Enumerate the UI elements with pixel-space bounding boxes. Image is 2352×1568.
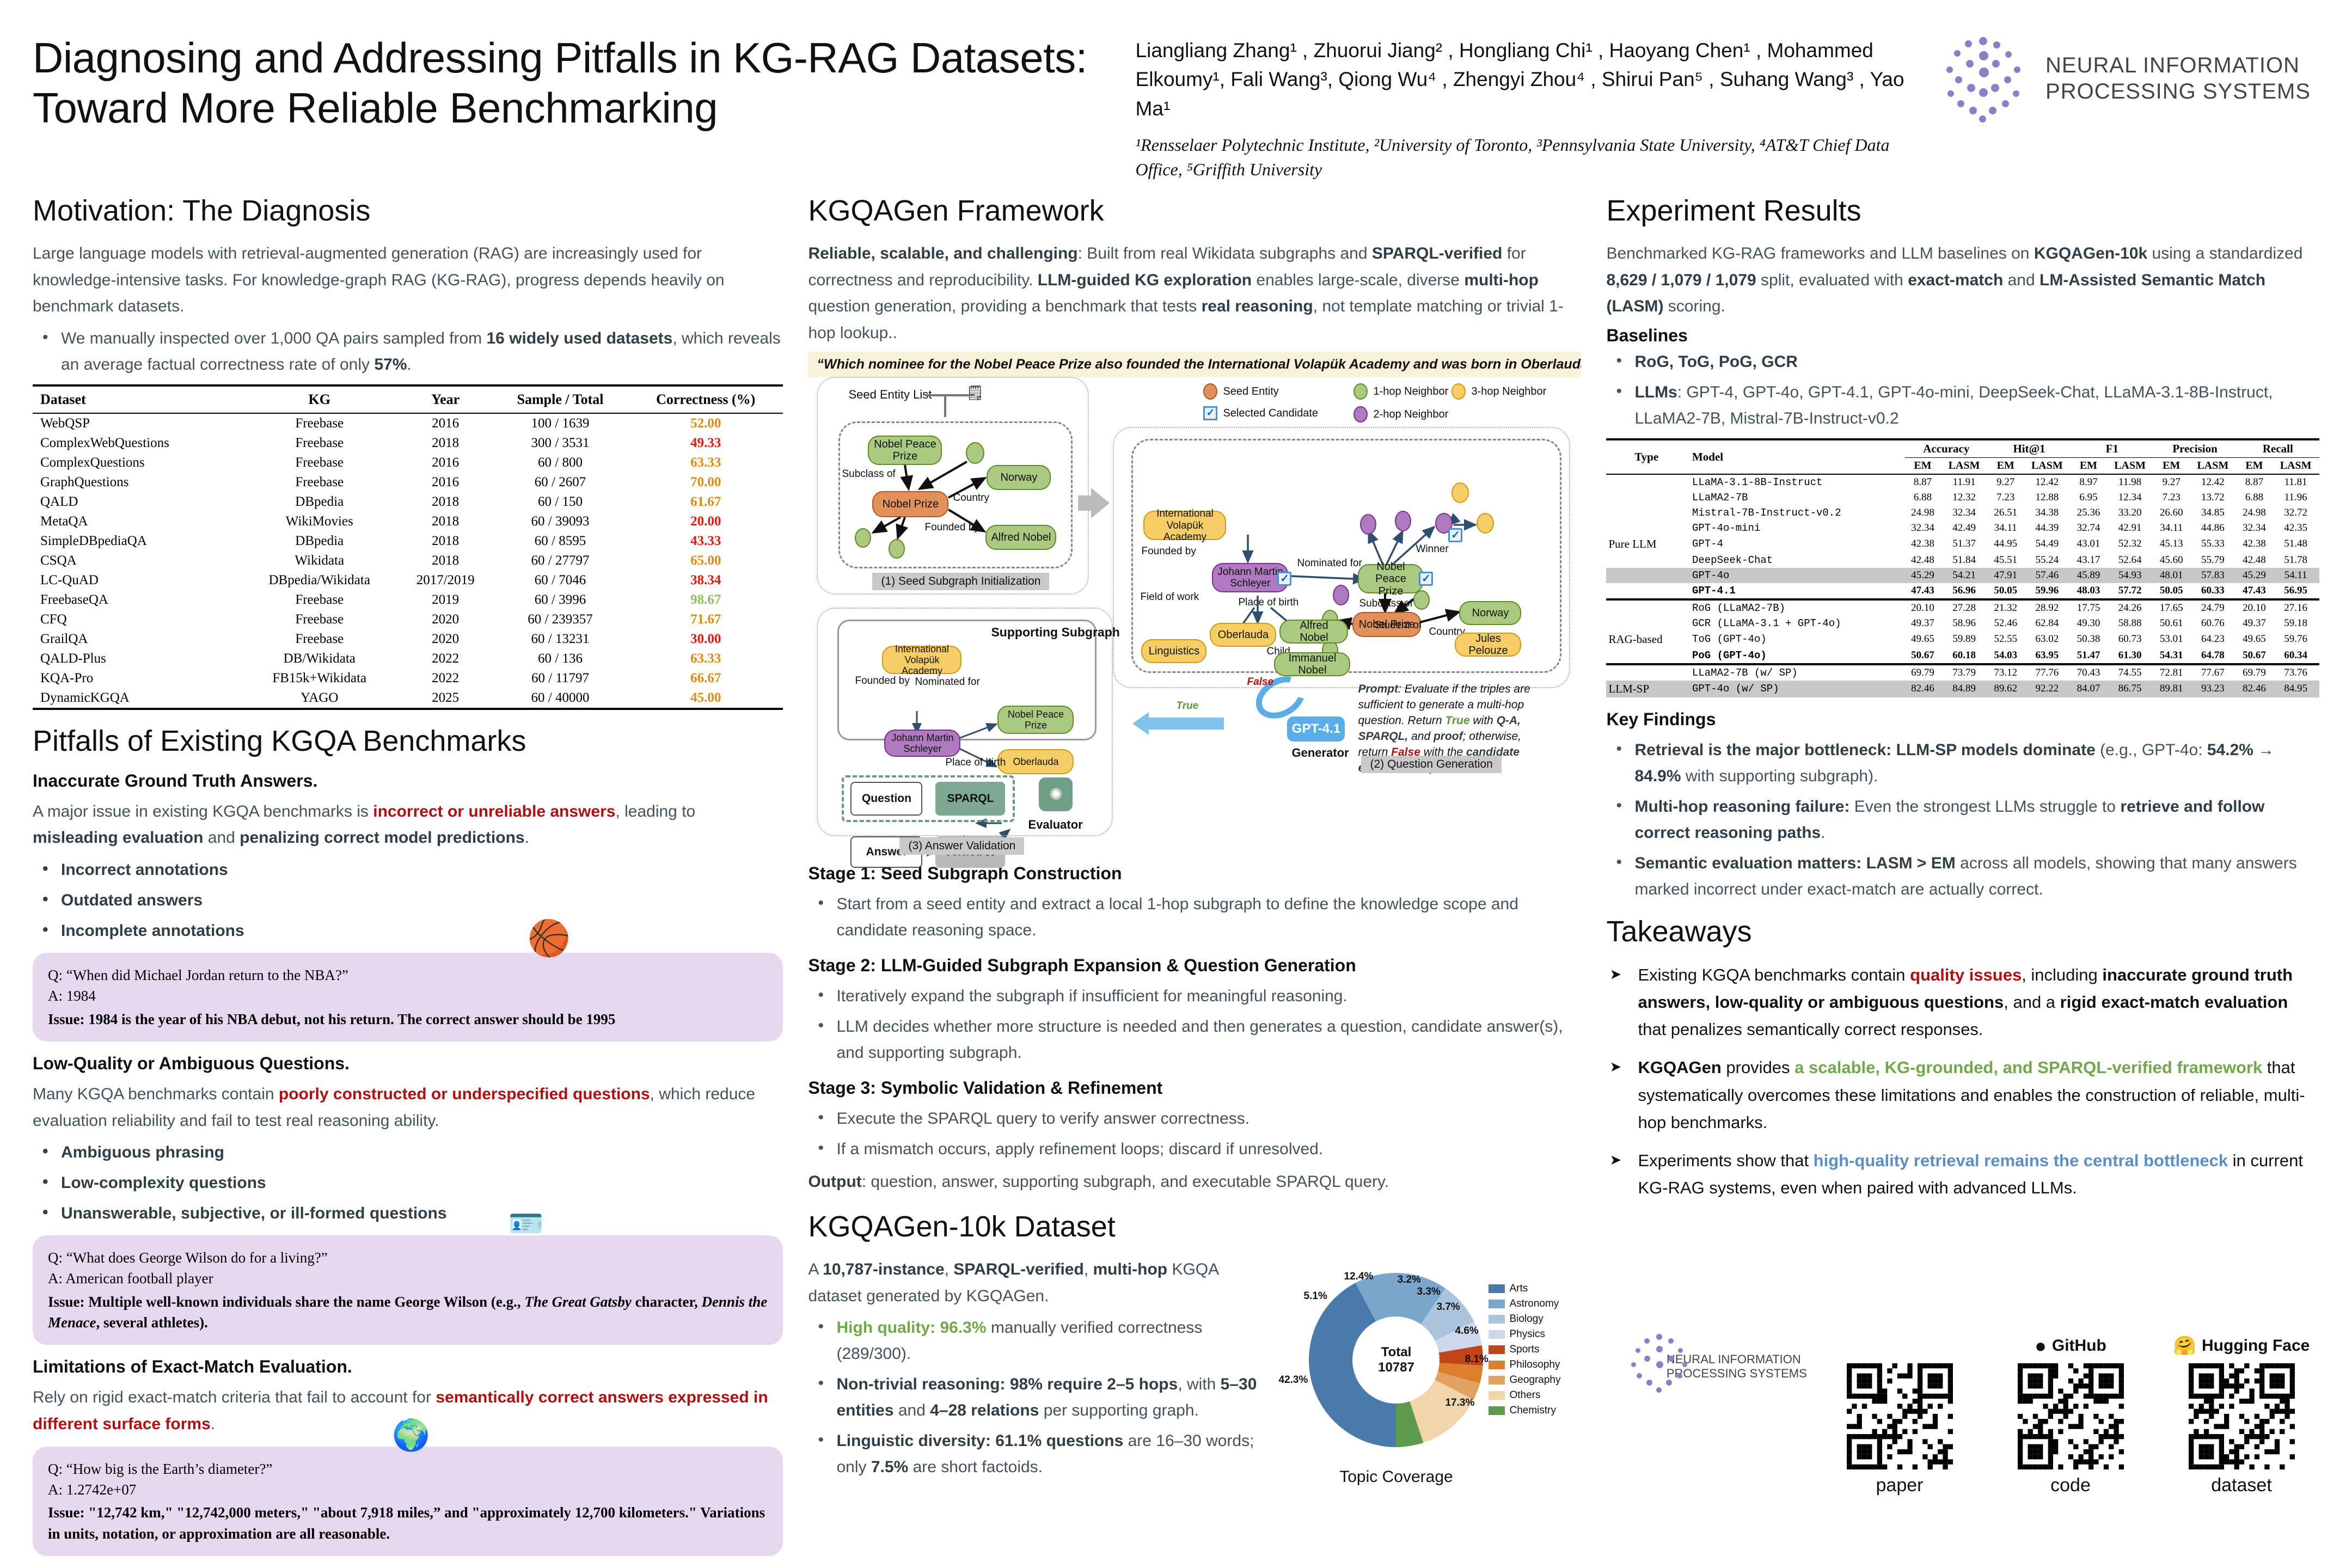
two-hop-dot-icon bbox=[1353, 406, 1368, 422]
cell-metric: 32.74 bbox=[2071, 520, 2106, 536]
section-heading-pitfalls: Pitfalls of Existing KGQA Benchmarks bbox=[33, 724, 783, 758]
cell-metric: 50.61 bbox=[2153, 616, 2189, 631]
chart-title: Topic Coverage bbox=[1303, 1468, 1489, 1486]
fw-bold: Reliable, scalable, and challenging bbox=[808, 244, 1077, 262]
title-block: Diagnosing and Addressing Pitfalls in KG… bbox=[33, 22, 1119, 133]
poster-header: Diagnosing and Addressing Pitfalls in KG… bbox=[33, 22, 2319, 185]
list-item: Outdated answers bbox=[33, 887, 783, 914]
res-subcol-lasm: LASM bbox=[2106, 457, 2154, 474]
cell-kg: DBpedia/Wikidata bbox=[240, 571, 399, 590]
kf0-b: Retrieval is the major bottleneck: LLM-S… bbox=[1634, 741, 2095, 759]
p2-i-b: character, bbox=[632, 1294, 702, 1310]
arrow-seed-down bbox=[944, 394, 946, 417]
cell-metric: 47.43 bbox=[2237, 583, 2273, 599]
legend-item: Physics bbox=[1489, 1328, 1560, 1340]
list-item: LLM decides whether more structure is ne… bbox=[808, 1014, 1581, 1066]
node-norway: Norway bbox=[987, 465, 1051, 490]
p2-i-i1: The Great Gatsby bbox=[524, 1294, 631, 1310]
cell-type: RAG-based bbox=[1606, 631, 1687, 648]
cell-metric: 7.23 bbox=[1988, 490, 2024, 505]
cell-metric: 54.31 bbox=[2153, 648, 2189, 664]
res-b: using a standardized bbox=[2147, 244, 2302, 262]
diagram-caption-1: (1) Seed Subgraph Initialization bbox=[872, 573, 1049, 590]
cell-correctness: 61.67 bbox=[628, 492, 783, 512]
res-d: and bbox=[2003, 271, 2039, 289]
cell-kg: Wikidata bbox=[240, 551, 399, 571]
legend-item: Astronomy bbox=[1489, 1298, 1560, 1310]
cell-metric: 20.10 bbox=[1905, 599, 1941, 616]
cell-dataset: CFQ bbox=[33, 610, 240, 629]
tk0-red: quality issues bbox=[1910, 965, 2022, 984]
kf2-b: Semantic evaluation matters: LASM > EM bbox=[1634, 854, 1955, 872]
list-item: RoG, ToG, PoG, GCR bbox=[1606, 349, 2319, 375]
cell-metric: 12.42 bbox=[2189, 474, 2237, 490]
framework-stages: Stage 1: Seed Subgraph Construction Star… bbox=[808, 863, 1581, 1196]
cell-type-empty bbox=[1606, 520, 1687, 536]
section-heading-results: Experiment Results bbox=[1606, 194, 2319, 228]
edge-winner: Winner bbox=[1416, 543, 1448, 555]
motiv-b-bold1: 16 widely used datasets bbox=[487, 329, 673, 347]
cell-model: GCR (LLaMA-3.1 + GPT-4o) bbox=[1687, 616, 1905, 631]
cell-sample: 60 / 39093 bbox=[492, 512, 628, 531]
col-sample: Sample / Total bbox=[492, 385, 628, 413]
cell-kg: Freebase bbox=[240, 629, 399, 649]
seed-entity-dot-icon bbox=[1203, 383, 1217, 400]
table-row: RAG-basedToG (GPT-4o)49.6559.8952.5563.0… bbox=[1606, 631, 2319, 648]
cell-metric: 34.11 bbox=[2153, 520, 2189, 536]
cell-metric: 27.16 bbox=[2272, 599, 2319, 616]
supporting-subgraph-label: Supporting Subgraph bbox=[991, 625, 1119, 640]
cell-model: RoG (LLaMA2-7B) bbox=[1687, 599, 1905, 616]
legend-seed-entity: Seed Entity bbox=[1203, 383, 1278, 400]
cell-metric: 54.11 bbox=[2272, 568, 2319, 583]
cell-metric: 59.89 bbox=[1940, 631, 1988, 648]
cell-dataset: SimpleDBpediaQA bbox=[33, 531, 240, 551]
pitfall-3-issue: Issue: "12,742 km," "12,742,000 meters,"… bbox=[48, 1502, 768, 1544]
qr-paper[interactable]: paper bbox=[1821, 1334, 1979, 1496]
cell-metric: 24.98 bbox=[1905, 505, 1941, 520]
slice-label-sports: 3.7% bbox=[1436, 1301, 1460, 1313]
res-subcol-lasm: LASM bbox=[1940, 457, 1988, 474]
cell-metric: 62.84 bbox=[2024, 616, 2071, 631]
results-table-head: Type Model Accuracy Hit@1 F1 Precision R… bbox=[1606, 439, 2319, 474]
framework-output: Output: question, answer, supporting sub… bbox=[808, 1169, 1581, 1196]
cell-metric: 49.30 bbox=[2071, 616, 2106, 631]
cell-kg: Freebase bbox=[240, 473, 399, 492]
cell-metric: 26.51 bbox=[1988, 505, 2024, 520]
cell-metric: 17.75 bbox=[2071, 599, 2106, 616]
section-heading-motivation: Motivation: The Diagnosis bbox=[33, 194, 783, 228]
ds-b1-rest: , with bbox=[1178, 1375, 1220, 1393]
bl1-rest: : GPT-4, GPT-4o, GPT-4.1, GPT-4o-mini, D… bbox=[1634, 383, 2273, 427]
cell-metric: 43.01 bbox=[2071, 536, 2106, 553]
cell-metric: 21.32 bbox=[1988, 599, 2024, 616]
cell-metric: 12.88 bbox=[2024, 490, 2071, 505]
pitfall-1-bullets: Incorrect annotations Outdated answers I… bbox=[33, 857, 783, 944]
footer-neurips-logo: NEURAL INFORMATION PROCESSING SYSTEMS bbox=[1628, 1334, 1808, 1399]
table-row: ComplexQuestionsFreebase201660 / 80063.3… bbox=[33, 453, 783, 473]
cell-sample: 60 / 11797 bbox=[492, 669, 628, 688]
cell-metric: 50.67 bbox=[1905, 648, 1941, 664]
table-row: GCR (LLaMA-3.1 + GPT-4o)49.3758.9652.466… bbox=[1606, 616, 2319, 631]
cell-metric: 51.37 bbox=[1940, 536, 1988, 553]
tk0-bold2: rigid exact-match evaluation bbox=[2060, 993, 2288, 1012]
cell-metric: 24.79 bbox=[2189, 599, 2237, 616]
node-nobel-prize: Nobel Prize bbox=[872, 491, 948, 517]
list-item: Start from a seed entity and extract a l… bbox=[808, 891, 1581, 944]
p1-d: . bbox=[525, 829, 529, 847]
cell-metric: 82.46 bbox=[2237, 681, 2273, 697]
cell-kg: Freebase bbox=[240, 610, 399, 629]
dataset10k-bullets: High quality: 96.3% manually verified co… bbox=[808, 1315, 1265, 1480]
res-subcol-lasm: LASM bbox=[2272, 457, 2319, 474]
cell-model: GPT-4o (w/ SP) bbox=[1687, 681, 1905, 697]
cell-year: 2017/2019 bbox=[399, 571, 492, 590]
baselines-title: Baselines bbox=[1606, 326, 2319, 346]
edge-student-of: Student of bbox=[1374, 620, 1422, 632]
cell-correctness: 43.33 bbox=[628, 531, 783, 551]
cell-type-empty bbox=[1606, 599, 1687, 616]
legend-swatch bbox=[1489, 1391, 1505, 1400]
cell-dataset: ComplexWebQuestions bbox=[33, 433, 240, 453]
pitfall-2-lead: Many KGQA benchmarks contain poorly cons… bbox=[33, 1081, 783, 1134]
cell-metric: 45.29 bbox=[1905, 568, 1941, 583]
fw-c: enables large-scale, diverse bbox=[1252, 271, 1464, 289]
list-item: LLMs: GPT-4, GPT-4o, GPT-4.1, GPT-4o-min… bbox=[1606, 379, 2319, 432]
ds-b2-rest2: are short factoids. bbox=[908, 1458, 1043, 1476]
legend-item: Others bbox=[1489, 1389, 1560, 1401]
cell-metric: 12.34 bbox=[2106, 490, 2154, 505]
cell-metric: 32.72 bbox=[2272, 505, 2319, 520]
ds-b2-bold: Linguistic diversity: 61.1% questions bbox=[836, 1432, 1123, 1450]
table-row: QALD-PlusDB/Wikidata202260 / 13663.33 bbox=[33, 649, 783, 669]
cell-metric: 50.38 bbox=[2071, 631, 2106, 648]
selected-candidate-check-icon[interactable]: ✓ bbox=[1448, 528, 1462, 542]
cell-metric: 42.38 bbox=[1905, 536, 1941, 553]
cell-metric: 12.42 bbox=[2024, 474, 2071, 490]
cell-metric: 11.98 bbox=[2106, 474, 2154, 490]
ds-b2-bold2: 7.5% bbox=[871, 1458, 908, 1476]
qr-code[interactable]: ● GitHub code bbox=[1992, 1334, 2149, 1496]
qr-dataset-code[interactable] bbox=[2189, 1363, 2295, 1469]
table-row: DeepSeek-Chat42.4851.8445.5155.2443.1752… bbox=[1606, 553, 2319, 568]
cell-metric: 50.67 bbox=[2237, 648, 2273, 664]
cell-correctness: 38.34 bbox=[628, 571, 783, 590]
table-row: CSQAWikidata201860 / 2779765.00 bbox=[33, 551, 783, 571]
cell-metric: 42.91 bbox=[2106, 520, 2154, 536]
cell-metric: 33.20 bbox=[2106, 505, 2154, 520]
donut-total-value: 10787 bbox=[1378, 1360, 1414, 1375]
table-row: SimpleDBpediaQADBpedia201860 / 859543.33 bbox=[33, 531, 783, 551]
selected-candidate-check-icon[interactable]: ✓ bbox=[1419, 572, 1433, 586]
cell-metric: 32.34 bbox=[1940, 505, 1988, 520]
cell-metric: 72.81 bbox=[2153, 664, 2189, 681]
prompt-proof: proof bbox=[1434, 730, 1463, 743]
res-subcol-em: EM bbox=[1988, 457, 2024, 474]
cell-metric: 84.89 bbox=[1940, 681, 1988, 697]
cell-type-empty bbox=[1606, 648, 1687, 664]
cell-type-empty bbox=[1606, 616, 1687, 631]
table-row: GPT-4o45.2954.2147.9157.4645.8954.9348.0… bbox=[1606, 568, 2319, 583]
qr-paper-head bbox=[1821, 1334, 1979, 1358]
legend-text: Geography bbox=[1509, 1374, 1560, 1386]
cell-metric: 47.43 bbox=[1905, 583, 1941, 599]
pitfall-2-question: Q: “What does George Wilson do for a liv… bbox=[48, 1247, 768, 1268]
cell-sample: 60 / 8595 bbox=[492, 531, 628, 551]
cell-correctness: 63.33 bbox=[628, 453, 783, 473]
qr-code-label: code bbox=[1992, 1475, 2149, 1496]
res-subcol-em: EM bbox=[1905, 457, 1941, 474]
cell-metric: 48.03 bbox=[2071, 583, 2106, 599]
cell-metric: 8.87 bbox=[2237, 474, 2273, 490]
dataset-table-head: Dataset KG Year Sample / Total Correctne… bbox=[33, 385, 783, 413]
qr-paper-label: paper bbox=[1821, 1475, 1979, 1496]
ds-b1-bold: Non-trivial reasoning: 98% require 2–5 h… bbox=[836, 1375, 1178, 1393]
legend-swatch bbox=[1489, 1376, 1505, 1385]
cell-type-empty bbox=[1606, 583, 1687, 599]
dataset10k-row: A 10,787-instance, SPARQL-verified, mult… bbox=[808, 1257, 1581, 1512]
cell-metric: 51.48 bbox=[2272, 536, 2319, 553]
p2-i-a: Issue: Multiple well-known individuals s… bbox=[48, 1294, 524, 1310]
diagram-caption-3: (3) Answer Validation bbox=[899, 837, 1024, 855]
cell-metric: 89.62 bbox=[1988, 681, 2024, 697]
cell-metric: 50.05 bbox=[1988, 583, 2024, 599]
sparql-box: SPARQL bbox=[935, 782, 1005, 816]
col-correctness: Correctness (%) bbox=[628, 385, 783, 413]
cell-metric: 61.30 bbox=[2106, 648, 2154, 664]
cell-metric: 42.48 bbox=[1905, 553, 1941, 568]
cell-metric: 55.24 bbox=[2024, 553, 2071, 568]
res-subcol-lasm: LASM bbox=[2189, 457, 2237, 474]
kf1-b: Multi-hop reasoning failure: bbox=[1634, 798, 1849, 816]
tk1-bold0: KGQAGen bbox=[1638, 1058, 1721, 1077]
diagram-target-question: “Which nominee for the Nobel Peace Prize… bbox=[808, 352, 1581, 377]
legend-label: Selected Candidate bbox=[1223, 407, 1318, 420]
evaluator-gpt-icon: ✺ bbox=[1039, 777, 1073, 811]
stage-2-items: Iteratively expand the subgraph if insuf… bbox=[808, 983, 1581, 1066]
p1-bold1: misleading evaluation bbox=[33, 829, 203, 847]
legend-text: Physics bbox=[1509, 1328, 1545, 1340]
table-row: QALDDBpedia201860 / 15061.67 bbox=[33, 492, 783, 512]
cell-kg: Freebase bbox=[240, 590, 399, 610]
cell-metric: 51.47 bbox=[2071, 648, 2106, 664]
results-table: Type Model Accuracy Hit@1 F1 Precision R… bbox=[1606, 438, 2319, 697]
slice-label-geography: 3.2% bbox=[1397, 1274, 1420, 1286]
res-b1: KGQAGen-10k bbox=[2034, 244, 2147, 262]
res-col-type: Type bbox=[1606, 439, 1687, 474]
motiv-b-suf: . bbox=[407, 356, 411, 373]
p1-red: incorrect or unreliable answers bbox=[373, 803, 615, 820]
selected-candidate-check-icon: ✓ bbox=[1203, 406, 1217, 420]
tk0-b: , including bbox=[2022, 965, 2102, 984]
key-findings-list: Retrieval is the major bottleneck: LLM-S… bbox=[1606, 737, 2319, 903]
cell-sample: 300 / 3531 bbox=[492, 433, 628, 453]
cell-correctness: 70.00 bbox=[628, 473, 783, 492]
cell-correctness: 49.33 bbox=[628, 433, 783, 453]
stage-1-title: Stage 1: Seed Subgraph Construction bbox=[808, 863, 1581, 884]
cell-metric: 17.65 bbox=[2153, 599, 2189, 616]
edge-subclass-of-2: Subclass of bbox=[1359, 598, 1412, 610]
cell-kg: DB/Wikidata bbox=[240, 649, 399, 669]
cell-year: 2018 bbox=[399, 531, 492, 551]
qr-code-code[interactable] bbox=[2018, 1363, 2124, 1469]
results-lead: Benchmarked KG-RAG frameworks and LLM ba… bbox=[1606, 241, 2319, 320]
table-row: RoG (LLaMA2-7B)20.1027.2821.3228.9217.75… bbox=[1606, 599, 2319, 616]
edge-nominated-for: Nominated for bbox=[1297, 558, 1362, 569]
cell-metric: 9.27 bbox=[1988, 474, 2024, 490]
cell-metric: 6.95 bbox=[2071, 490, 2106, 505]
cell-model: GPT-4o-mini bbox=[1687, 520, 1905, 536]
cell-model: GPT-4 bbox=[1687, 536, 1905, 553]
loop-false-label: False bbox=[1247, 676, 1273, 688]
tk0-c: , and a bbox=[2004, 993, 2060, 1012]
sup-edge-founded-by: Founded by bbox=[855, 675, 909, 687]
edge-subclass-of: Subclass of bbox=[842, 468, 895, 480]
cell-year: 2016 bbox=[399, 453, 492, 473]
table-row: KQA-ProFB15k+Wikidata202260 / 1179766.67 bbox=[33, 669, 783, 688]
section-heading-takeaways: Takeaways bbox=[1606, 915, 2319, 948]
motiv-b-pre: We manually inspected over 1,000 QA pair… bbox=[61, 329, 487, 347]
legend-item: Philosophy bbox=[1489, 1359, 1560, 1371]
qr-dataset[interactable]: 🤗 Hugging Face dataset bbox=[2163, 1334, 2320, 1496]
cell-metric: 50.05 bbox=[2153, 583, 2189, 599]
p1-c: and bbox=[203, 829, 240, 847]
pitfall-1-lead: A major issue in existing KGQA benchmark… bbox=[33, 799, 783, 852]
evaluator-label: Evaluator bbox=[1028, 818, 1082, 832]
cell-type: Pure LLM bbox=[1606, 536, 1687, 553]
list-item: Existing KGQA benchmarks contain quality… bbox=[1606, 961, 2319, 1044]
cell-model: DeepSeek-Chat bbox=[1687, 553, 1905, 568]
legend-label: 2-hop Neighbor bbox=[1373, 408, 1448, 421]
tk0-a: Existing KGQA benchmarks contain bbox=[1638, 965, 1910, 984]
legend-swatch bbox=[1489, 1330, 1505, 1339]
cell-kg: Freebase bbox=[240, 413, 399, 433]
output-text: : question, answer, supporting subgraph,… bbox=[862, 1173, 1389, 1191]
cell-metric: 52.32 bbox=[2106, 536, 2154, 553]
loop-true-label: True bbox=[1176, 700, 1198, 712]
pitfall-2-example-callout: 🪪 Q: “What does George Wilson do for a l… bbox=[33, 1235, 783, 1345]
list-item: Experiments show that high-quality retri… bbox=[1606, 1147, 2319, 1202]
table-row: LLM-SPGPT-4o (w/ SP)82.4684.8989.6292.22… bbox=[1606, 681, 2319, 697]
cell-metric: 73.12 bbox=[1988, 664, 2024, 681]
dataset10k-lead: A 10,787-instance, SPARQL-verified, mult… bbox=[808, 1257, 1265, 1309]
cell-metric: 92.22 bbox=[2024, 681, 2071, 697]
takeaways-list: Existing KGQA benchmarks contain quality… bbox=[1606, 961, 2319, 1202]
cell-metric: 51.78 bbox=[2272, 553, 2319, 568]
cell-year: 2016 bbox=[399, 473, 492, 492]
cell-kg: YAGO bbox=[240, 688, 399, 709]
fw-b3: multi-hop bbox=[1464, 271, 1539, 289]
cell-metric: 20.10 bbox=[2237, 599, 2273, 616]
cell-dataset: QALD bbox=[33, 492, 240, 512]
cell-model: Mistral-7B-Instruct-v0.2 bbox=[1687, 505, 1905, 520]
legend-text: Chemistry bbox=[1509, 1405, 1556, 1417]
cell-model: LLaMA2-7B (w/ SP) bbox=[1687, 664, 1905, 681]
p3-b: . bbox=[211, 1415, 215, 1433]
cell-metric: 52.55 bbox=[1988, 631, 2024, 648]
cell-metric: 51.84 bbox=[1940, 553, 1988, 568]
page-title: Diagnosing and Addressing Pitfalls in KG… bbox=[33, 33, 1119, 133]
list-item: Linguistic diversity: 61.1% questions ar… bbox=[808, 1428, 1265, 1480]
pitfall-2-bullets: Ambiguous phrasing Low-complexity questi… bbox=[33, 1140, 783, 1227]
table-row: GraphQuestionsFreebase201660 / 260770.00 bbox=[33, 473, 783, 492]
res-group-precision: Precision bbox=[2153, 439, 2236, 458]
qr-dataset-label: dataset bbox=[2163, 1475, 2320, 1496]
cell-year: 2016 bbox=[399, 413, 492, 433]
cell-metric: 7.23 bbox=[2153, 490, 2189, 505]
qr-paper-code[interactable] bbox=[1847, 1363, 1953, 1469]
table-row: LLaMA2-7B6.8812.327.2312.886.9512.347.23… bbox=[1606, 490, 2319, 505]
sup-node-oberlauda: Oberlauda bbox=[997, 749, 1074, 774]
cell-metric: 6.88 bbox=[2237, 490, 2273, 505]
cell-metric: 69.79 bbox=[1905, 664, 1941, 681]
legend-item: Arts bbox=[1489, 1283, 1560, 1295]
poster-footer: NEURAL INFORMATION PROCESSING SYSTEMS pa… bbox=[1628, 1334, 2330, 1496]
cell-year: 2025 bbox=[399, 688, 492, 709]
p1-b: , leading to bbox=[615, 803, 695, 820]
question-box: Question bbox=[850, 782, 922, 816]
cell-dataset: DynamicKGQA bbox=[33, 688, 240, 709]
cell-metric: 77.76 bbox=[2024, 664, 2071, 681]
cell-dataset: WebQSP bbox=[33, 413, 240, 433]
res-group-f1: F1 bbox=[2071, 439, 2153, 458]
cell-type-empty bbox=[1606, 505, 1687, 520]
slice-label-biology: 8.1% bbox=[1465, 1353, 1488, 1365]
cell-sample: 60 / 800 bbox=[492, 453, 628, 473]
cell-dataset: QALD-Plus bbox=[33, 649, 240, 669]
table-row: GrailQAFreebase202060 / 1323130.00 bbox=[33, 629, 783, 649]
stage-1-items: Start from a seed entity and extract a l… bbox=[808, 891, 1581, 944]
pitfall-1-example-callout: 🏀 Q: “When did Michael Jordan return to … bbox=[33, 953, 783, 1042]
stage-3-items: Execute the SPARQL query to verify answe… bbox=[808, 1106, 1581, 1162]
column-motivation: Motivation: The Diagnosis Large language… bbox=[33, 191, 783, 1560]
list-item: KGQAGen provides a scalable, KG-grounded… bbox=[1606, 1054, 2319, 1136]
node-jules-pelouze: Jules Pelouze bbox=[1455, 633, 1521, 657]
cell-metric: 63.02 bbox=[2024, 631, 2071, 648]
poster-root: Diagnosing and Addressing Pitfalls in KG… bbox=[0, 0, 2352, 1568]
cell-metric: 11.91 bbox=[1940, 474, 1988, 490]
slice-label-others: 12.4% bbox=[1344, 1271, 1373, 1283]
p1-bold2: penalizing correct model predictions bbox=[240, 829, 524, 847]
cell-metric: 58.96 bbox=[1940, 616, 1988, 631]
cell-model: PoG (GPT-4o) bbox=[1687, 648, 1905, 664]
earth-globe-icon: 🌍 bbox=[392, 1420, 430, 1451]
neurips-logo-text: NEURAL INFORMATION PROCESSING SYSTEMS bbox=[2045, 36, 2319, 105]
cell-sample: 100 / 1639 bbox=[492, 413, 628, 433]
pitfall-2-issue: Issue: Multiple well-known individuals s… bbox=[48, 1291, 768, 1333]
cell-correctness: 66.67 bbox=[628, 669, 783, 688]
res-a: Benchmarked KG-RAG frameworks and LLM ba… bbox=[1606, 244, 2033, 262]
baselines-list: RoG, ToG, PoG, GCR LLMs: GPT-4, GPT-4o, … bbox=[1606, 349, 2319, 432]
cell-metric: 49.65 bbox=[2237, 631, 2273, 648]
sup-edge-place-of-birth: Place of birth bbox=[945, 757, 1006, 769]
table-row: GPT-4o-mini32.3442.4934.1144.3932.7442.9… bbox=[1606, 520, 2319, 536]
res-b3: exact-match bbox=[1908, 271, 2003, 289]
legend-2hop: 2-hop Neighbor bbox=[1353, 406, 1448, 422]
cell-metric: 54.93 bbox=[2106, 568, 2154, 583]
res-subcol-em: EM bbox=[2237, 457, 2273, 474]
cell-metric: 44.95 bbox=[1988, 536, 2024, 553]
list-icon: 🗒 bbox=[966, 384, 984, 401]
table-row: FreebaseQAFreebase201960 / 399698.67 bbox=[33, 590, 783, 610]
res-group-hit1: Hit@1 bbox=[1988, 439, 2071, 458]
list-item: Iteratively expand the subgraph if insuf… bbox=[808, 983, 1581, 1009]
selected-candidate-check-icon[interactable]: ✓ bbox=[1277, 572, 1291, 586]
motivation-bullet-1: We manually inspected over 1,000 QA pair… bbox=[33, 326, 783, 378]
cell-metric: 53.01 bbox=[2153, 631, 2189, 648]
table-row: Pure LLMGPT-442.3851.3744.9554.4943.0152… bbox=[1606, 536, 2319, 553]
cell-correctness: 63.33 bbox=[628, 649, 783, 669]
